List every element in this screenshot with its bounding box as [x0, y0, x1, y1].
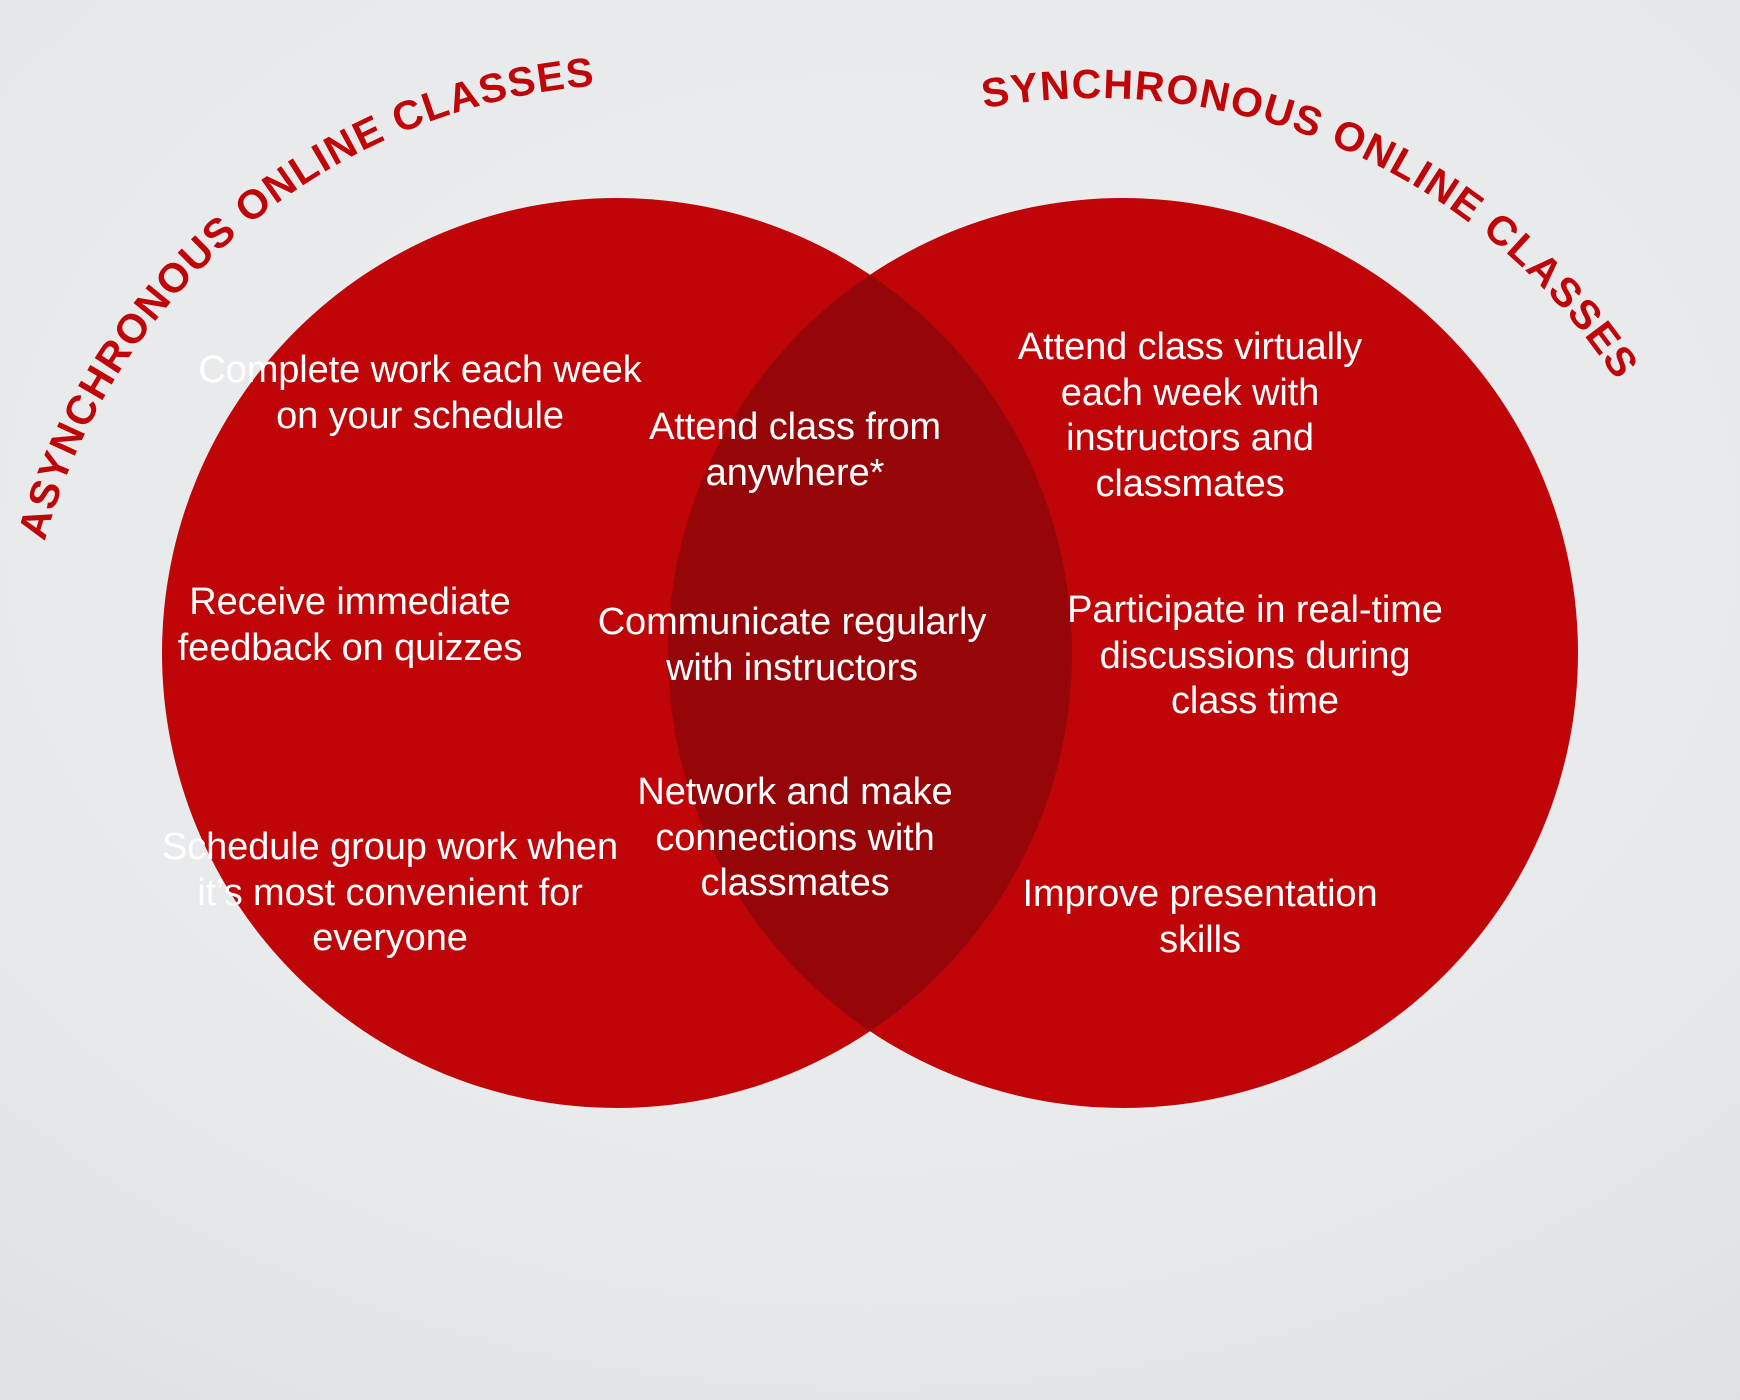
center-item-3: Network and make connections with classm… [600, 770, 990, 907]
left-item-3: Schedule group work when it’s most conve… [160, 825, 620, 962]
right-item-2: Participate in real-time discussions dur… [1055, 588, 1455, 725]
right-item-1: Attend class virtually each week with in… [1000, 325, 1380, 507]
left-item-1: Complete work each week on your schedule [180, 348, 660, 439]
venn-circles-svg: ASYNCHRONOUS ONLINE CLASSES SYNCHRONOUS … [0, 0, 1740, 1400]
center-item-2: Communicate regularly with instructors [572, 600, 1012, 691]
right-item-3: Improve presentation skills [1000, 872, 1400, 963]
center-item-1: Attend class from anywhere* [615, 405, 975, 496]
left-item-2: Receive immediate feedback on quizzes [140, 580, 560, 671]
venn-diagram: ASYNCHRONOUS ONLINE CLASSES SYNCHRONOUS … [0, 0, 1740, 1400]
